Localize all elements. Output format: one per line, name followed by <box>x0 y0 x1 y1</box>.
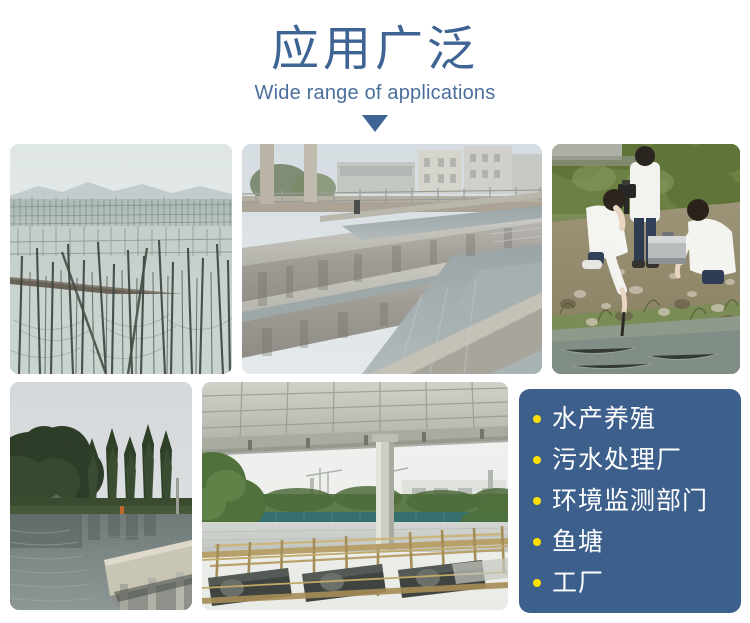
photo-aquaculture-poles[interactable] <box>10 144 232 374</box>
instrument-case <box>648 232 686 264</box>
application-label: 工厂 <box>552 568 604 598</box>
application-label: 环境监测部门 <box>552 486 708 516</box>
photo-field-monitoring[interactable] <box>552 144 740 374</box>
chevron-down-icon <box>362 115 388 132</box>
page-title: 应用广泛 <box>0 22 750 76</box>
page-header: 应用广泛 Wide range of applications <box>0 0 750 134</box>
bullet-icon <box>533 415 541 423</box>
photo-field-monitoring-art <box>552 144 740 374</box>
list-item[interactable]: 水产养殖 <box>533 404 733 434</box>
application-label: 水产养殖 <box>552 404 656 434</box>
applications-panel: 水产养殖 污水处理厂 环境监测部门 鱼塘 工厂 <box>519 389 741 613</box>
bullet-icon <box>533 538 541 546</box>
list-item[interactable]: 鱼塘 <box>533 527 733 557</box>
photo-aquaculture-poles-art <box>10 144 232 374</box>
list-item[interactable]: 工厂 <box>533 568 733 598</box>
photo-wastewater-channels-art <box>242 144 542 374</box>
photo-wastewater-channels[interactable] <box>242 144 542 374</box>
list-item[interactable]: 污水处理厂 <box>533 445 733 475</box>
chevron-container <box>0 112 750 134</box>
page-subtitle: Wide range of applications <box>0 80 750 106</box>
bullet-icon <box>533 579 541 587</box>
gallery-row-top <box>10 144 750 374</box>
photo-factory-canopy-art <box>202 382 508 610</box>
application-label: 污水处理厂 <box>552 445 682 475</box>
application-label: 鱼塘 <box>552 527 604 557</box>
photo-factory-canopy[interactable] <box>202 382 508 610</box>
photo-fish-pond[interactable] <box>10 382 192 610</box>
list-item[interactable]: 环境监测部门 <box>533 486 733 516</box>
bullet-icon <box>533 456 541 464</box>
photo-fish-pond-art <box>10 382 192 610</box>
bullet-icon <box>533 497 541 505</box>
